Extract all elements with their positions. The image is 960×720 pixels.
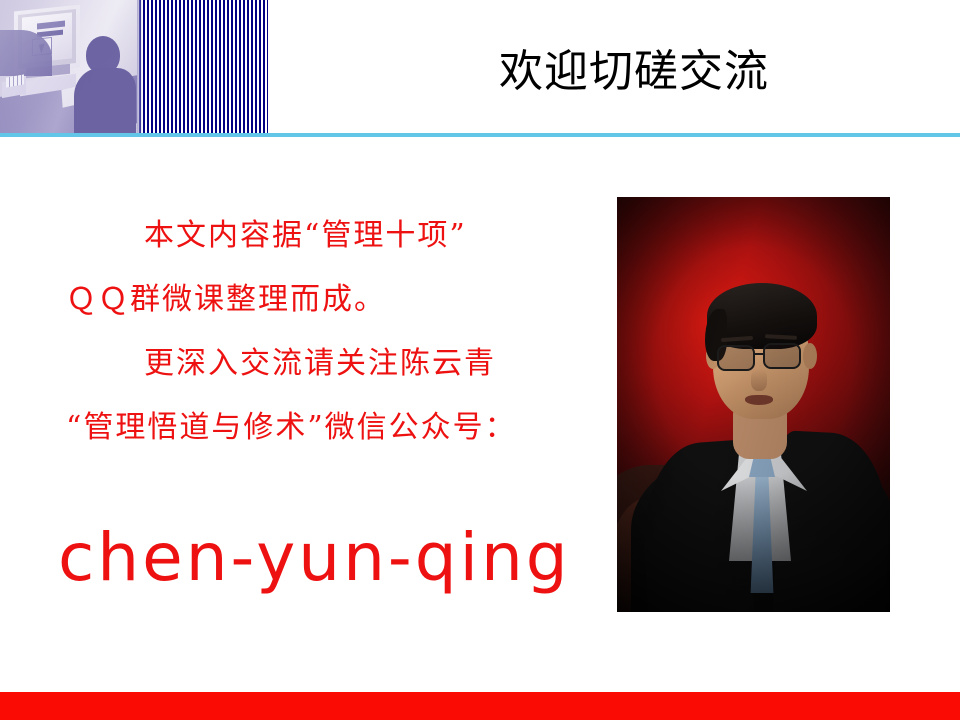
wechat-account-handle: chen-yun-qing xyxy=(58,519,618,596)
body-line-3: 更深入交流请关注陈云青 xyxy=(66,332,611,396)
body-line-2: ＱＱ群微课整理而成。 xyxy=(66,268,611,332)
header-divider-line xyxy=(0,133,960,137)
slide-canvas: 欢迎切磋交流 本文内容据“管理十项” ＱＱ群微课整理而成。 更深入交流请关注陈云… xyxy=(0,0,960,720)
header-clipart-image xyxy=(0,0,137,133)
clipart-gloss-overlay xyxy=(0,0,137,133)
header-stripe-fade xyxy=(137,0,143,133)
footer-accent-bar xyxy=(0,692,960,720)
body-text-block: 本文内容据“管理十项” ＱＱ群微课整理而成。 更深入交流请关注陈云青 “管理悟道… xyxy=(66,204,611,460)
portrait-shadow-overlay xyxy=(617,197,890,612)
portrait-photo xyxy=(617,197,890,612)
body-line-1: 本文内容据“管理十项” xyxy=(66,204,611,268)
slide-header: 欢迎切磋交流 xyxy=(0,0,960,135)
header-stripe-decoration xyxy=(137,0,268,133)
body-line-4: “管理悟道与修术”微信公众号： xyxy=(66,396,611,460)
page-title: 欢迎切磋交流 xyxy=(268,0,960,133)
